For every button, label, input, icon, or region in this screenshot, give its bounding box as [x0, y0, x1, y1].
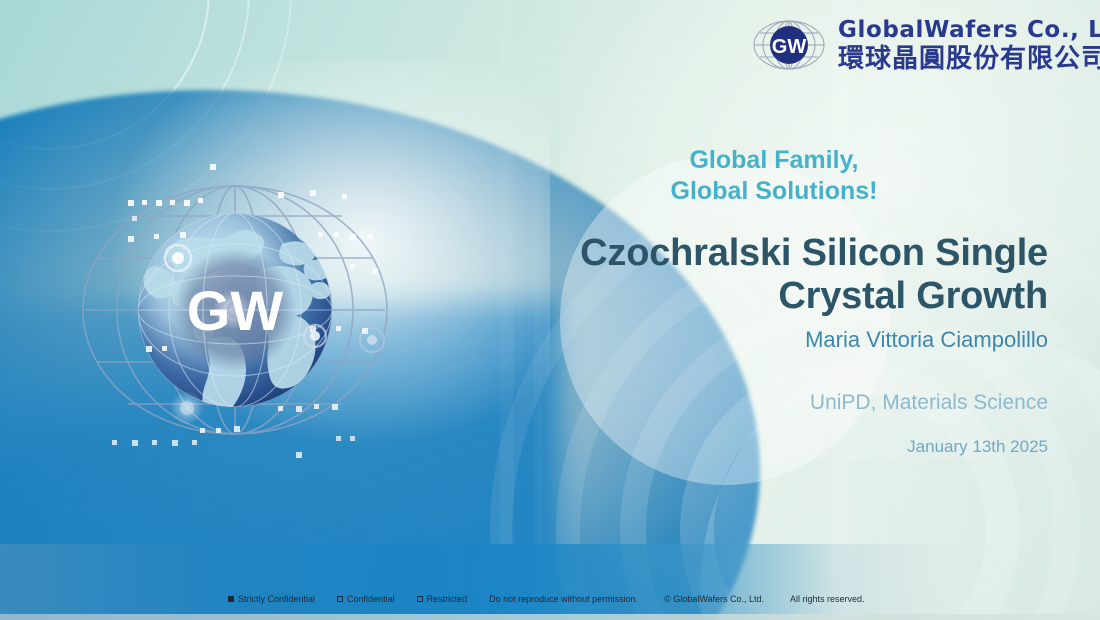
classification-label: Confidential: [347, 594, 395, 604]
classification-label: Restricted: [427, 594, 468, 604]
tagline-line-1: Global Family,: [689, 146, 858, 174]
title-slide: GW GW GlobalWafers Co., Ltd: [0, 0, 1100, 620]
classification-strictly-confidential[interactable]: Strictly Confidential: [228, 594, 315, 604]
title-text-block: Global Family, Global Solutions! Czochra…: [500, 145, 1048, 457]
globe-illustration: GW: [50, 140, 420, 490]
svg-text:GW: GW: [772, 36, 807, 58]
company-name-block: GlobalWafers Co., Ltd. 環球晶圓股份有限公司: [838, 19, 1100, 72]
checkbox-empty-icon[interactable]: [417, 596, 423, 602]
company-name-chinese: 環球晶圓股份有限公司: [838, 46, 1100, 72]
affiliation: UniPD, Materials Science: [500, 391, 1048, 415]
classification-confidential[interactable]: Confidential: [337, 594, 395, 604]
footer-edge-line: [0, 614, 1100, 620]
footer: Strictly Confidential Confidential Restr…: [228, 594, 865, 604]
checkbox-filled-icon[interactable]: [228, 596, 234, 602]
reproduction-notice: Do not reproduce without permission.: [489, 594, 638, 604]
globe-gw-label: GW: [187, 279, 284, 342]
title-line-1: Czochralski Silicon Single: [580, 232, 1048, 274]
page-title: Czochralski Silicon Single Crystal Growt…: [500, 232, 1048, 318]
classification-restricted[interactable]: Restricted: [417, 594, 468, 604]
globalwafers-logo-icon: GW: [752, 14, 826, 76]
title-line-2: Crystal Growth: [500, 275, 1048, 318]
rights-notice: All rights reserved.: [790, 594, 865, 604]
footer-band: [0, 544, 1100, 620]
copyright-notice: © GlobalWafers Co., Ltd.: [664, 594, 764, 604]
classification-label: Strictly Confidential: [238, 594, 315, 604]
checkbox-empty-icon[interactable]: [337, 596, 343, 602]
company-name-english: GlobalWafers Co., Ltd.: [838, 19, 1100, 42]
author-name: Maria Vittoria Ciampolillo: [500, 327, 1048, 353]
presentation-date: January 13th 2025: [500, 437, 1048, 457]
company-logo: GW GlobalWafers Co., Ltd. 環球晶圓股份有限公司: [752, 14, 1100, 76]
tagline-line-2: Global Solutions!: [500, 176, 1048, 207]
tagline: Global Family, Global Solutions!: [500, 145, 1048, 206]
